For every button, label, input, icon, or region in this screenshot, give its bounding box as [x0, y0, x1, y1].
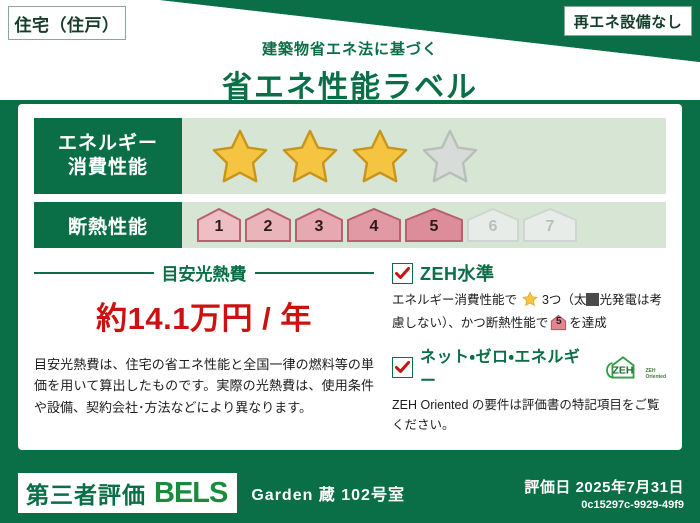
zeh-column: ZEH水準 エネルギー消費性能で 3つ（太光発電は考慮しない）、かつ断熱性能で … — [392, 260, 666, 445]
footer-bar: 第三者評価 BELS Garden 蔵 102号室 評価日 2025年7月31日… — [0, 463, 700, 523]
zeh-logo-subtext: ZEH Oriented — [645, 369, 666, 380]
insulation-badge-value: 4 — [370, 219, 379, 241]
insulation-badge-active: 5 — [404, 207, 464, 243]
insulation-badge-active: 4 — [346, 207, 402, 243]
zeh-logo-icon: ZEH ZEH Oriented — [603, 354, 666, 380]
star-icon-inline — [518, 296, 541, 310]
title-subtitle: 建築物省エネ法に基づく — [0, 38, 700, 59]
energy-performance-label: エネルギー 消費性能 — [34, 118, 182, 194]
redacted-character — [586, 293, 599, 306]
zeh-body-text-4: を達成 — [569, 316, 607, 330]
energy-label-line2: 消費性能 — [68, 156, 148, 180]
utility-cost-note: 目安光熱費は、住宅の省エネ性能と全国一律の燃料等の単価を用いて算出したものです。… — [34, 354, 374, 418]
insulation-badge-value: 3 — [315, 219, 324, 241]
page-title: 省エネ性能ラベル — [0, 62, 700, 106]
star-icon-empty — [420, 127, 480, 185]
lower-section: 目安光熱費 約14.1万円 / 年 目安光熱費は、住宅の省エネ性能と全国一律の燃… — [34, 260, 666, 445]
badge-renewable-energy: 再エネ設備なし — [564, 6, 692, 36]
zeh-oriented-body: ZEH Oriented の要件は評価書の特記項目をご覧ください。 — [392, 395, 666, 435]
star-icon-filled — [280, 127, 340, 185]
bels-label-en: BELS — [154, 477, 227, 510]
insulation-performance-label: 断熱性能 — [34, 202, 182, 248]
insulation-badge-inactive: 7 — [522, 207, 578, 243]
zeh-logo-sub-line2: Oriented — [645, 374, 666, 380]
zeh-oriented-heading: ネット・ゼロ・エネルギー ZEH ZEH Oriented — [392, 343, 666, 391]
insulation-badge-inline: 5 — [550, 314, 567, 331]
zeh-body-text-1: エネルギー消費性能で — [392, 293, 517, 307]
utility-cost-heading-text: 目安光熱費 — [162, 260, 247, 285]
bels-logo: 第三者評価 BELS — [18, 473, 237, 513]
insulation-badge-inline-value: 5 — [550, 314, 567, 330]
star-icon-filled — [210, 127, 270, 185]
rule-left — [34, 272, 154, 274]
evaluation-info: 評価日 2025年7月31日 0c15297c-9929-49f9 — [524, 476, 684, 511]
badge-building-type: 住宅（住戸） — [8, 6, 126, 40]
insulation-badge-inactive: 6 — [466, 207, 520, 243]
insulation-badge-value: 2 — [264, 219, 273, 241]
utility-cost-heading: 目安光熱費 — [34, 260, 374, 285]
title-block: 建築物省エネ法に基づく 省エネ性能ラベル — [0, 38, 700, 106]
zeh-standard-title: ZEH水準 — [420, 260, 495, 286]
evaluation-id: 0c15297c-9929-49f9 — [524, 499, 684, 511]
insulation-badge-active: 3 — [294, 207, 344, 243]
star-icon-filled — [350, 127, 410, 185]
insulation-badge-value: 6 — [489, 219, 498, 241]
energy-performance-label: 住宅（住戸） 再エネ設備なし 建築物省エネ法に基づく 省エネ性能ラベル エネルギ… — [0, 0, 700, 523]
bels-label-jp: 第三者評価 — [26, 476, 146, 510]
zeh-standard-heading: ZEH水準 — [392, 260, 666, 286]
checkmark-icon — [392, 357, 413, 378]
insulation-badge-active: 2 — [244, 207, 292, 243]
checkmark-icon — [392, 263, 413, 284]
zeh-oriented-block: ネット・ゼロ・エネルギー ZEH ZEH Oriented — [392, 343, 666, 435]
property-unit-name: Garden 蔵 102号室 — [251, 481, 405, 505]
insulation-performance-row: 断熱性能 1234567 — [34, 202, 666, 248]
insulation-badge-value: 5 — [430, 219, 439, 241]
insulation-badge-value: 7 — [546, 219, 555, 241]
insulation-badge-active: 1 — [196, 207, 242, 243]
zeh-body-text-2: 3つ（太 — [542, 293, 586, 307]
energy-star-rating — [182, 118, 666, 194]
evaluation-date: 評価日 2025年7月31日 — [524, 476, 684, 497]
rule-right — [255, 272, 375, 274]
zeh-standard-body: エネルギー消費性能で 3つ（太光発電は考慮しない）、かつ断熱性能で 5 を達成 — [392, 290, 666, 333]
insulation-level-scale: 1234567 — [182, 202, 666, 248]
utility-cost-amount: 約14.1万円 / 年 — [34, 293, 374, 338]
content-panel: エネルギー 消費性能 断熱性能 1234567 目安光熱費 約14.1万円 / … — [18, 104, 682, 450]
energy-performance-row: エネルギー 消費性能 — [34, 118, 666, 194]
utility-cost-column: 目安光熱費 約14.1万円 / 年 目安光熱費は、住宅の省エネ性能と全国一律の燃… — [34, 260, 374, 445]
insulation-badge-value: 1 — [215, 219, 224, 241]
zeh-standard-block: ZEH水準 エネルギー消費性能で 3つ（太光発電は考慮しない）、かつ断熱性能で … — [392, 260, 666, 333]
energy-label-line1: エネルギー — [58, 132, 158, 156]
zeh-oriented-title: ネット・ゼロ・エネルギー — [420, 343, 592, 391]
svg-text:ZEH: ZEH — [613, 365, 634, 377]
